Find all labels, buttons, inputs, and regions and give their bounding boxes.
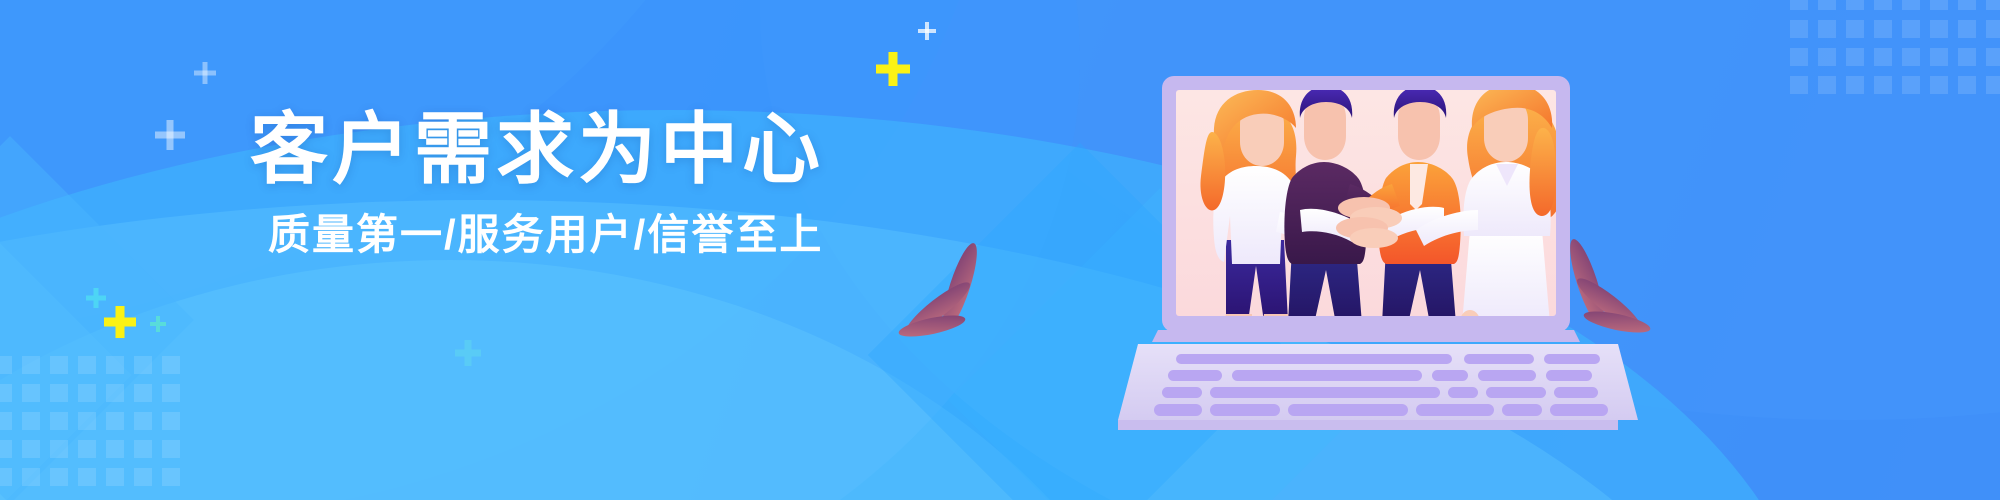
grid-square [22, 468, 40, 486]
grid-square [1958, 0, 1976, 10]
plus-icon-cyan-bottom-left [86, 288, 106, 308]
grid-square [1930, 0, 1948, 10]
grid-square [106, 384, 124, 402]
grid-square [0, 468, 12, 486]
grid-square [0, 412, 12, 430]
grid-square [22, 412, 40, 430]
grid-square [1790, 48, 1808, 66]
grid-square [78, 440, 96, 458]
grid-square [1818, 20, 1836, 38]
plus-icon-cyan-small [150, 316, 166, 332]
laptop-teamwork-illustration [1152, 62, 1604, 432]
grid-square [50, 412, 68, 430]
grid-square [106, 412, 124, 430]
grid-square [162, 440, 180, 458]
grid-square [1846, 48, 1864, 66]
grid-square [1930, 20, 1948, 38]
plus-icon-white-left [155, 120, 185, 150]
grid-square [1986, 0, 2000, 10]
grid-square [1930, 76, 1948, 94]
grid-square [1902, 48, 1920, 66]
grid-square [106, 356, 124, 374]
grid-square [50, 440, 68, 458]
grid-square [1874, 48, 1892, 66]
grid-square [134, 440, 152, 458]
grid-square [78, 356, 96, 374]
grid-square [1902, 20, 1920, 38]
grid-square [1874, 20, 1892, 38]
grid-square [1790, 20, 1808, 38]
grid-square [78, 468, 96, 486]
grid-square [134, 412, 152, 430]
laptop-base-edge [1118, 420, 1618, 430]
grid-square [1818, 76, 1836, 94]
grid-square [50, 356, 68, 374]
grid-square [1986, 20, 2000, 38]
grid-square [1874, 0, 1892, 10]
leaf-cluster-left [890, 222, 1000, 342]
grid-square [78, 384, 96, 402]
grid-square [1958, 48, 1976, 66]
grid-square [162, 356, 180, 374]
grid-square [1902, 0, 1920, 10]
grid-square [1986, 48, 2000, 66]
plus-icon-white-small-top [918, 22, 936, 40]
banner-text-block: 客户需求为中心 质量第一/服务用户/信誉至上 [250, 108, 824, 259]
skirt [1462, 230, 1550, 324]
grid-square [1986, 76, 2000, 94]
grid-square [1958, 20, 1976, 38]
grid-square [1958, 76, 1976, 94]
grid-square [50, 384, 68, 402]
grid-square [1874, 76, 1892, 94]
grid-square [1846, 0, 1864, 10]
grid-square [1846, 76, 1864, 94]
grid-square [1790, 0, 1808, 10]
banner-headline: 客户需求为中心 [250, 108, 824, 191]
grid-square [22, 384, 40, 402]
plus-icon-yellow-top [876, 52, 910, 86]
grid-square [134, 468, 152, 486]
grid-square [162, 384, 180, 402]
grid-square [50, 468, 68, 486]
grid-square [134, 356, 152, 374]
promotional-banner: 客户需求为中心 质量第一/服务用户/信誉至上 [0, 0, 2000, 500]
plus-icon-white-upper-left [194, 62, 216, 84]
grid-square [1818, 0, 1836, 10]
grid-square [106, 468, 124, 486]
grid-square [162, 412, 180, 430]
grid-square [134, 384, 152, 402]
square-grid-bottom-left [0, 356, 180, 486]
grid-square [22, 440, 40, 458]
square-grid-top-right [1790, 0, 2000, 94]
plus-icon-yellow-bottom-left [104, 306, 136, 338]
grid-square [22, 356, 40, 374]
grid-square [1846, 20, 1864, 38]
grid-square [106, 440, 124, 458]
grid-square [0, 356, 12, 374]
grid-square [78, 412, 96, 430]
grid-square [0, 384, 12, 402]
grid-square [1930, 48, 1948, 66]
laptop-hinge [1152, 330, 1580, 342]
banner-subheadline: 质量第一/服务用户/信誉至上 [268, 211, 824, 259]
grid-square [0, 440, 12, 458]
grid-square [1790, 76, 1808, 94]
plus-icon-cyan-center [455, 340, 481, 366]
grid-square [1902, 76, 1920, 94]
grid-square [1818, 48, 1836, 66]
grid-square [162, 468, 180, 486]
